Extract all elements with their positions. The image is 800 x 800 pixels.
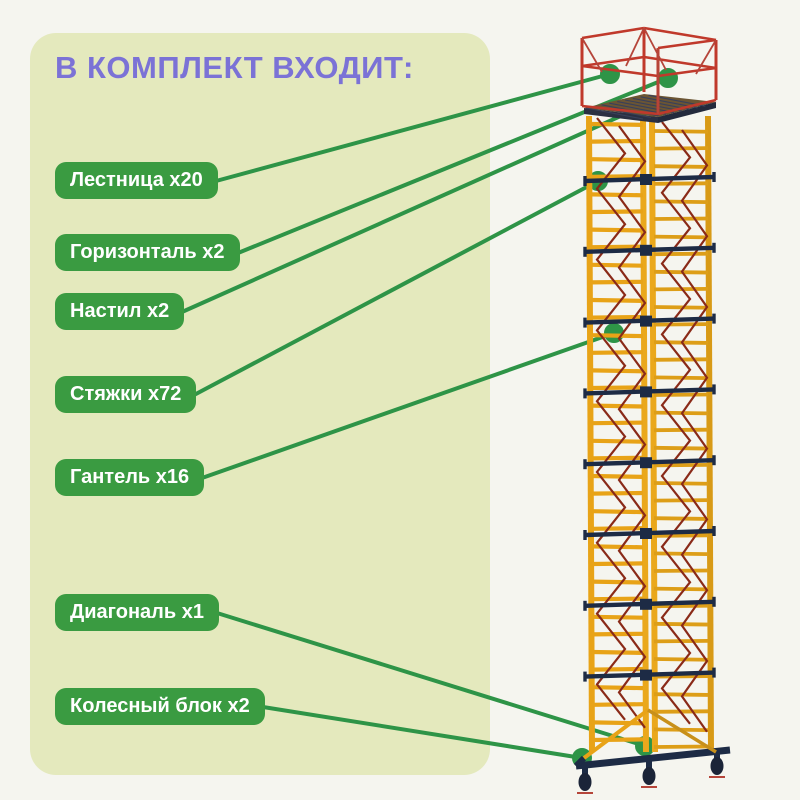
part-label-7[interactable]: Колесный блок x2 [55, 688, 265, 725]
part-label-2[interactable]: Горизонталь x2 [55, 234, 240, 271]
tower-rung [654, 254, 708, 255]
tower-guardrail-brace-2 [626, 28, 644, 66]
tower-rung [592, 300, 643, 301]
tower-rung [654, 606, 708, 607]
tower-rung [592, 652, 643, 653]
page-title: В КОМПЛЕКТ ВХОДИТ: [55, 50, 414, 86]
tower-post-3 [652, 116, 655, 752]
part-label-3[interactable]: Настил x2 [55, 293, 184, 330]
part-label-1[interactable]: Лестница x20 [55, 162, 218, 199]
tower-rung [592, 722, 643, 723]
part-label-4[interactable]: Стяжки x72 [55, 376, 196, 413]
tower-tie-clamp [640, 245, 652, 256]
tower-rung [654, 307, 708, 308]
tower-rung [654, 183, 708, 184]
tower-tie-clamp [640, 528, 652, 539]
tower-rung [654, 518, 708, 519]
part-label-6[interactable]: Диагональ x1 [55, 594, 219, 631]
tower-rung [654, 465, 708, 466]
tower-guardrail-bar-1 [582, 28, 644, 38]
tower-guardrail-bar-2 [644, 28, 716, 40]
tower-rung [654, 237, 708, 238]
tower-brace-rear-left [662, 122, 690, 724]
tower-guardrail-brace-3 [644, 28, 666, 70]
tower-rung [592, 194, 643, 195]
tower-rung [592, 739, 643, 740]
tower-rung [592, 370, 643, 371]
tower-rung [592, 441, 643, 442]
tower-rung [654, 624, 708, 625]
tower-rung [592, 634, 643, 635]
tower-rung [654, 659, 708, 660]
tower-guardrail-bar-5 [658, 40, 716, 48]
scaffolding-tower-illustration [540, 10, 770, 800]
tower-tie-clamp [640, 457, 652, 468]
tower-rung [654, 377, 708, 378]
tower-rung [654, 694, 708, 695]
tower-guardrail-bar-9 [658, 68, 716, 76]
tower-post-4 [708, 116, 711, 752]
tower-rung [654, 395, 708, 396]
tower-guardrail-bar-3 [582, 57, 644, 66]
tower-rung [592, 141, 643, 142]
tower-rung [592, 265, 643, 266]
tower-tie-clamp [640, 174, 652, 185]
tower-rung [654, 553, 708, 554]
tower-rung [592, 563, 643, 564]
tower-rung [592, 511, 643, 512]
tower-brace-front-left [597, 118, 625, 720]
part-label-5[interactable]: Гантель x16 [55, 459, 204, 496]
tower-rung [654, 166, 708, 167]
tower-rung [592, 493, 643, 494]
tower-rung [654, 324, 708, 325]
tower-rung [592, 124, 643, 125]
tower-tie-clamp [640, 599, 652, 610]
tower-tie-clamp [640, 316, 652, 327]
tower-rung [592, 282, 643, 283]
tower-rung [654, 131, 708, 132]
tower-rung [654, 201, 708, 202]
tower-rung [592, 582, 643, 583]
tower-rung [592, 423, 643, 424]
wheel-icon [711, 757, 724, 775]
tower-base-beam [576, 750, 730, 766]
tower-rung [592, 704, 643, 705]
tower-tie-clamp [640, 386, 652, 397]
tower-guardrail-bar-8 [582, 66, 658, 76]
infographic-canvas: В КОМПЛЕКТ ВХОДИТ: Лестница x20Горизонта… [0, 0, 800, 800]
tower-rung [654, 448, 708, 449]
tower-rung [592, 352, 643, 353]
tower-rung [592, 211, 643, 212]
tower-rung [654, 148, 708, 149]
wheel-icon [579, 773, 592, 791]
wheel-icon [643, 767, 656, 785]
tower-rung [592, 230, 643, 231]
tower-post-1 [589, 116, 592, 752]
tower-rung [654, 535, 708, 536]
tower-rung [592, 159, 643, 160]
tower-rung [654, 747, 708, 748]
tower-tie-clamp [640, 670, 652, 681]
tower-rung [654, 589, 708, 590]
